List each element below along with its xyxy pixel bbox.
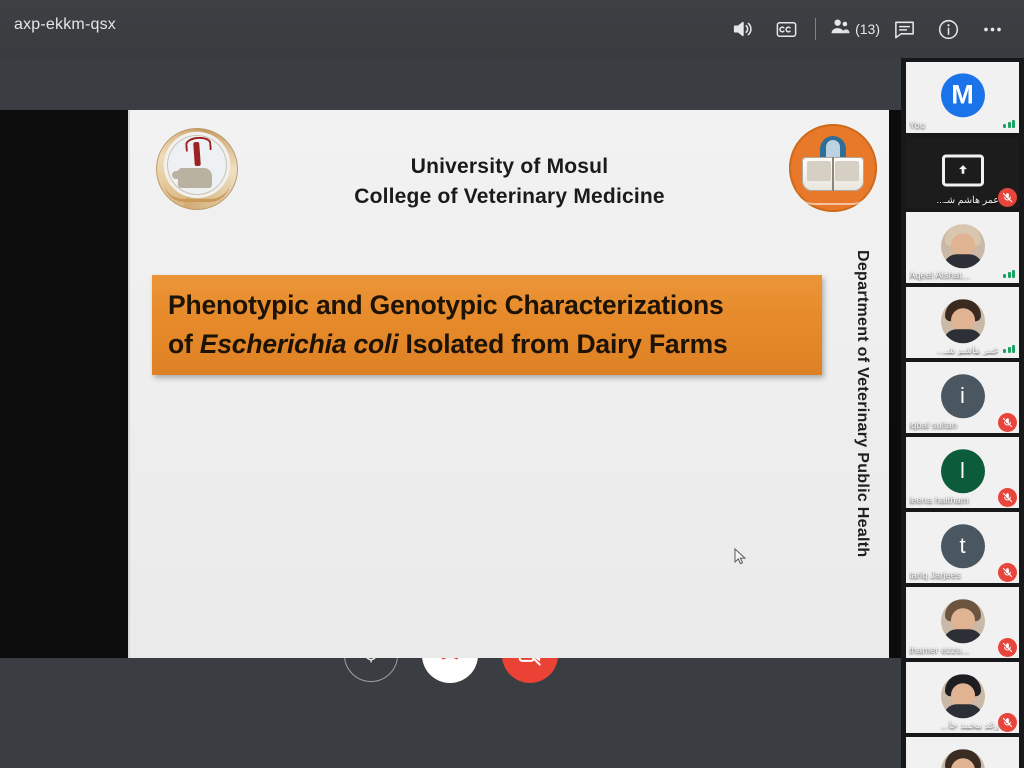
- participant-sidebar[interactable]: MYouعمر هاشم شـ...Aqeel Alshat...عمر هاش…: [901, 58, 1024, 768]
- species-name: Escherichia coli: [200, 329, 399, 359]
- speaking-indicator: [1003, 345, 1015, 353]
- participant-tile[interactable]: ttariq Jarjees: [906, 512, 1019, 583]
- people-icon: [829, 15, 852, 43]
- avatar: [941, 599, 985, 643]
- participant-tile[interactable]: iiqbal sultan: [906, 362, 1019, 433]
- participant-tile[interactable]: عمر هاشم شـ...: [906, 287, 1019, 358]
- participant-tile[interactable]: رغد محمد جا...: [906, 662, 1019, 733]
- title-line-2: of Escherichia coli Isolated from Dairy …: [168, 325, 806, 364]
- slide-title-banner: Phenotypic and Genotypic Characterizatio…: [152, 275, 822, 375]
- participant-count: (13): [855, 21, 880, 37]
- avatar: i: [941, 374, 985, 418]
- participant-name: You: [909, 120, 997, 131]
- participant-name: iqbal sultan: [909, 420, 997, 431]
- avatar: [941, 224, 985, 268]
- avatar: [941, 749, 985, 768]
- participant-name: Aqeel Alshat...: [909, 270, 997, 281]
- info-icon[interactable]: [926, 7, 970, 51]
- avatar: [941, 674, 985, 718]
- participant-tile[interactable]: lleena haitham: [906, 437, 1019, 508]
- shared-slide: University of Mosul College of Veterinar…: [128, 110, 889, 658]
- mute-icon: [998, 188, 1017, 207]
- slide-canvas: University of Mosul College of Veterinar…: [130, 110, 889, 658]
- chat-icon[interactable]: [882, 7, 926, 51]
- meeting-code-label: axp-ekkm-qsx: [14, 16, 116, 34]
- title-prefix: of: [168, 329, 200, 359]
- more-options-icon[interactable]: [970, 7, 1014, 51]
- participant-name: tariq Jarjees: [909, 570, 997, 581]
- mute-icon: [998, 488, 1017, 507]
- mouse-cursor: [734, 548, 748, 566]
- top-bar: axp-ekkm-qsx: [0, 0, 1024, 58]
- participant-name: عمر هاشم شـ...: [920, 345, 999, 356]
- title-suffix: Isolated from Dairy Farms: [398, 329, 727, 359]
- avatar: t: [941, 524, 985, 568]
- people-button[interactable]: (13): [823, 15, 882, 43]
- mute-icon: [998, 713, 1017, 732]
- avatar: l: [941, 449, 985, 493]
- closed-captions-icon[interactable]: [764, 7, 808, 51]
- title-line-1: Phenotypic and Genotypic Characterizatio…: [168, 286, 806, 325]
- participant-name: رغد محمد جا...: [920, 720, 999, 731]
- top-bar-actions: (13): [720, 0, 1014, 58]
- participant-tile[interactable]: MYou: [906, 62, 1019, 133]
- mute-icon: [998, 413, 1017, 432]
- heading-line-1: University of Mosul: [130, 152, 889, 182]
- department-vertical-label: Department of Veterinary Public Health: [853, 250, 871, 557]
- participant-name: عمر هاشم شـ...: [920, 195, 999, 206]
- speaking-indicator: [1003, 270, 1015, 278]
- speaking-indicator: [1003, 120, 1015, 128]
- heading-line-2: College of Veterinary Medicine: [130, 182, 889, 212]
- participant-tile[interactable]: عمر هاشم شـ...: [906, 137, 1019, 208]
- participant-tile[interactable]: [906, 737, 1019, 768]
- participant-name: leena haitham: [909, 495, 997, 506]
- avatar: [941, 299, 985, 343]
- mute-icon: [998, 638, 1017, 657]
- toolbar-divider: [815, 18, 816, 40]
- mute-icon: [998, 563, 1017, 582]
- presenting-screen-icon: [942, 154, 984, 186]
- participant-tile[interactable]: thamer ezzu...: [906, 587, 1019, 658]
- slide-institution-heading: University of Mosul College of Veterinar…: [130, 152, 889, 212]
- volume-icon[interactable]: [720, 7, 764, 51]
- participant-name: thamer ezzu...: [909, 645, 997, 656]
- avatar: M: [941, 73, 985, 117]
- participant-tile[interactable]: Aqeel Alshat...: [906, 212, 1019, 283]
